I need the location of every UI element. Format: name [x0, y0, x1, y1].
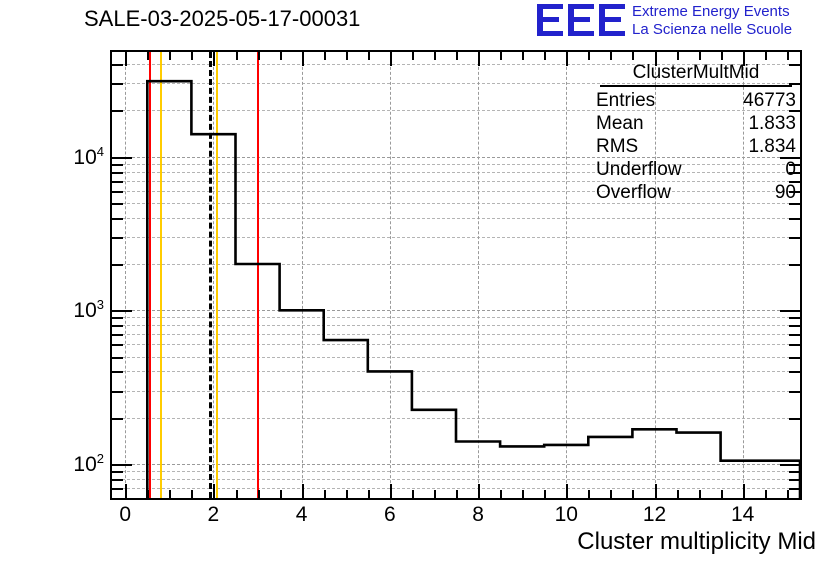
x-axis-tick: [368, 490, 370, 498]
x-axis-tick-top: [677, 52, 679, 60]
x-axis-tick: [677, 490, 679, 498]
x-axis-tick-top: [280, 52, 282, 60]
x-axis-tick: [456, 490, 458, 498]
y-axis-tick: [112, 64, 123, 66]
x-axis-tick-top: [544, 52, 546, 60]
logo-text: Extreme Energy Events La Scienza nelle S…: [632, 3, 792, 38]
x-axis-tick-label: 12: [643, 503, 666, 527]
y-axis-tick-right: [789, 317, 800, 319]
x-axis-tick-top: [787, 52, 789, 60]
x-axis-tick: [125, 484, 127, 498]
x-axis-tick-top: [412, 52, 414, 60]
stats-rows: Entries46773Mean1.833RMS1.834Underflow0O…: [592, 89, 800, 204]
eee-mark-icon: [536, 2, 628, 38]
x-axis-tick-top: [346, 52, 348, 60]
x-axis-tick: [236, 490, 238, 498]
x-axis-tick-top: [368, 52, 370, 60]
x-axis-tick: [655, 484, 657, 498]
y-axis-tick-label: 102: [73, 451, 104, 477]
y-axis-tick: [112, 418, 123, 420]
x-axis-tick: [280, 490, 282, 498]
x-axis-tick: [544, 490, 546, 498]
stats-row: Underflow0: [592, 158, 800, 181]
x-axis-tick: [721, 490, 723, 498]
y-axis-tick-right: [789, 471, 800, 473]
x-axis-tick-label: 0: [119, 503, 131, 527]
x-axis-tick: [147, 490, 149, 498]
y-axis-tick-right: [789, 498, 800, 500]
y-axis-tick: [112, 172, 123, 174]
x-axis-tick: [632, 490, 634, 498]
x-axis-tick-top: [390, 52, 392, 66]
x-axis-tick: [302, 484, 304, 498]
x-axis-tick: [434, 490, 436, 498]
y-axis-tick: [112, 357, 123, 359]
stats-row: Entries46773: [592, 89, 800, 112]
x-axis-tick: [412, 490, 414, 498]
x-axis-tick-top: [478, 52, 480, 66]
x-axis-tick: [743, 484, 745, 498]
y-axis-tick-right: [789, 264, 800, 266]
y-axis-tick: [112, 464, 132, 466]
x-axis-tick-top: [588, 52, 590, 60]
stats-row-value: 90: [775, 181, 796, 204]
x-axis-tick-label: 2: [208, 503, 220, 527]
x-axis-tick: [258, 490, 260, 498]
y-axis-tick-label: 103: [73, 297, 104, 323]
x-axis-tick-top: [236, 52, 238, 60]
x-axis-tick-top: [765, 52, 767, 60]
y-axis-tick: [112, 181, 123, 183]
x-axis-tick-top: [500, 52, 502, 60]
y-axis-tick-right: [789, 488, 800, 490]
y-axis-tick: [112, 479, 123, 481]
x-axis-tick: [169, 490, 171, 498]
y-axis-tick-label: 104: [73, 144, 104, 170]
y-axis-tick: [112, 310, 132, 312]
x-axis-tick-top: [632, 52, 634, 60]
y-axis-tick-right: [780, 310, 800, 312]
x-axis-tick-top: [566, 52, 568, 66]
x-axis-tick-label: 6: [384, 503, 396, 527]
x-axis-tick-top: [169, 52, 171, 60]
x-axis-tick: [346, 490, 348, 498]
stats-row-key: Mean: [596, 112, 644, 135]
x-axis-tick-top: [434, 52, 436, 60]
y-axis-tick-right: [789, 371, 800, 373]
y-axis-tick: [112, 203, 123, 205]
stats-row-value: 1.833: [748, 112, 796, 135]
y-axis-tick: [112, 334, 123, 336]
x-axis-tick-top: [456, 52, 458, 60]
root-canvas: SALE-03-2025-05-17-00031 Extreme Energy …: [0, 0, 836, 572]
y-axis-tick: [112, 391, 123, 393]
x-axis-tick-top: [699, 52, 701, 60]
stats-row-key: RMS: [596, 135, 638, 158]
x-axis-tick-label: 8: [472, 503, 484, 527]
x-axis-tick-top: [147, 52, 149, 60]
x-axis-tick-top: [258, 52, 260, 60]
x-axis-tick-top: [213, 52, 215, 66]
x-axis-tick-top: [302, 52, 304, 66]
logo-line-2: La Scienza nelle Scuole: [632, 21, 792, 39]
stats-box: ClusterMultMid Entries46773Mean1.833RMS1…: [592, 62, 800, 204]
y-axis-tick: [112, 317, 123, 319]
x-axis-tick: [500, 490, 502, 498]
stats-histogram-name: ClusterMultMid: [600, 62, 792, 87]
stats-row: Overflow90: [592, 181, 800, 204]
y-axis-tick-right: [789, 218, 800, 220]
stats-row: RMS1.834: [592, 135, 800, 158]
y-axis-tick-right: [789, 325, 800, 327]
y-axis-tick-right: [789, 391, 800, 393]
x-axis-tick-label: 14: [731, 503, 754, 527]
x-axis-tick-top: [522, 52, 524, 60]
x-axis-tick-top: [721, 52, 723, 60]
logo-line-1: Extreme Energy Events: [632, 3, 792, 21]
x-axis-tick: [324, 490, 326, 498]
stats-row: Mean1.833: [592, 112, 800, 135]
x-axis-tick: [787, 490, 789, 498]
y-axis-tick: [112, 83, 123, 85]
y-axis-tick-right: [789, 418, 800, 420]
stats-row-value: 0: [785, 158, 796, 181]
eee-logo: Extreme Energy Events La Scienza nelle S…: [536, 2, 834, 42]
y-axis-tick-right: [789, 237, 800, 239]
x-axis-tick: [390, 484, 392, 498]
x-axis-tick: [765, 490, 767, 498]
y-axis-tick-right: [780, 464, 800, 466]
x-axis-tick: [588, 490, 590, 498]
x-axis-tick-top: [191, 52, 193, 60]
x-axis-tick: [610, 490, 612, 498]
x-axis-tick-top: [125, 52, 127, 66]
stats-row-key: Overflow: [596, 181, 671, 204]
y-axis-tick: [112, 191, 123, 193]
y-axis-tick: [112, 325, 123, 327]
y-axis-tick: [112, 264, 123, 266]
x-axis-tick-top: [610, 52, 612, 60]
y-axis-tick-right: [789, 344, 800, 346]
x-axis-tick-label: 4: [296, 503, 308, 527]
y-axis-tick-right: [789, 357, 800, 359]
y-axis-tick: [112, 218, 123, 220]
stats-row-value: 46773: [743, 89, 796, 112]
y-axis-tick: [112, 344, 123, 346]
y-axis-tick: [112, 157, 132, 159]
x-axis-tick: [191, 490, 193, 498]
stats-row-value: 1.834: [748, 135, 796, 158]
page-title: SALE-03-2025-05-17-00031: [84, 6, 360, 32]
x-axis-tick-top: [324, 52, 326, 60]
x-axis-tick: [699, 490, 701, 498]
y-axis-tick: [112, 110, 123, 112]
x-axis-tick: [522, 490, 524, 498]
y-axis-tick: [112, 498, 123, 500]
y-axis-tick-right: [789, 334, 800, 336]
y-axis-tick: [112, 164, 123, 166]
x-axis-tick: [213, 484, 215, 498]
stats-row-key: Underflow: [596, 158, 682, 181]
x-axis-title: Cluster multiplicity Mid: [577, 528, 816, 556]
y-axis-tick: [112, 471, 123, 473]
y-axis-tick-right: [789, 479, 800, 481]
x-axis-tick: [478, 484, 480, 498]
y-axis-tick: [112, 371, 123, 373]
x-axis-tick: [566, 484, 568, 498]
stats-row-key: Entries: [596, 89, 655, 112]
x-axis-tick-label: 10: [555, 503, 578, 527]
y-axis-tick: [112, 237, 123, 239]
y-axis-tick: [112, 488, 123, 490]
